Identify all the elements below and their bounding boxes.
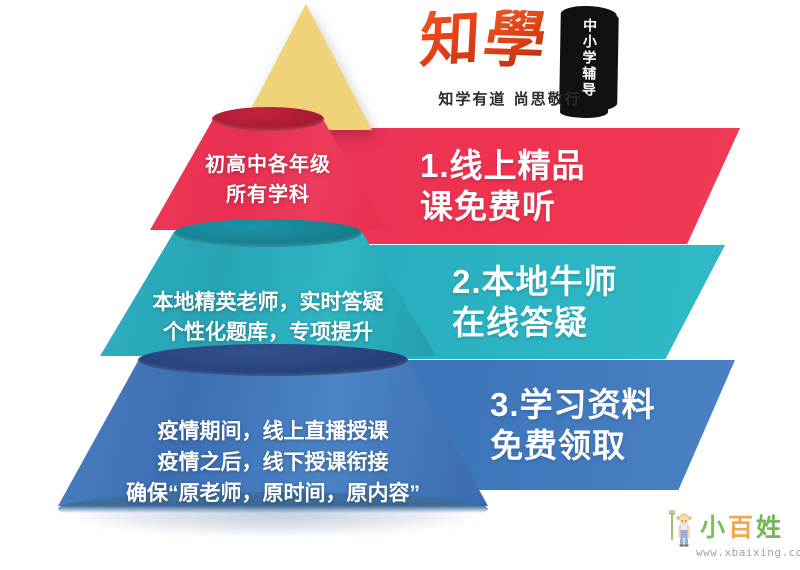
pyramid-layer-blue: 疫情期间，线上直播授课 疫情之后，线下授课衔接 确保“原老师，原时间，原内容” [58, 358, 488, 506]
pyramid-layer-red-text: 初高中各年级 所有学科 [150, 150, 386, 210]
watermark-char-1: 小 [700, 515, 726, 541]
seal-label: 中小学辅导 [579, 18, 597, 98]
watermark: 小 百 姓 www.xbaixing.com [668, 508, 792, 564]
pyramid-layer-blue-text: 疫情期间，线上直播授课 疫情之后，线下授课衔接 确保“原老师，原时间，原内容” [58, 416, 488, 509]
pyramid-layer-blue-cap [138, 344, 408, 376]
logo-char-xue: 學 [479, 9, 549, 71]
pyramid-layer-teal: 本地精英老师，实时答疑 个性化题库，专项提升 [100, 232, 436, 356]
watermark-char-2: 百 [728, 515, 754, 541]
poster-canvas: 知 學 中小学辅导 知学有道 尚思敬行 1.线上精品 课免费听 2.本地牛师 在… [0, 0, 800, 570]
pyramid-graphic: 初高中各年级 所有学科 本地精英老师，实时答疑 个性化题库，专项提升 疫情期间，… [58, 0, 478, 545]
watermark-url: www.xbaixing.com [696, 546, 800, 559]
pyramid-layer-red-cap [212, 107, 324, 131]
watermark-brand-chars: 小 百 姓 [700, 515, 782, 541]
pyramid-layer-red: 初高中各年级 所有学科 [150, 118, 386, 230]
pyramid-layer-teal-cap [174, 219, 362, 247]
watermark-row: 小 百 姓 [668, 508, 782, 548]
farmer-mascot-icon [668, 508, 696, 548]
watermark-char-3: 姓 [756, 515, 782, 541]
pyramid-layer-teal-text: 本地精英老师，实时答疑 个性化题库，专项提升 [100, 288, 436, 348]
